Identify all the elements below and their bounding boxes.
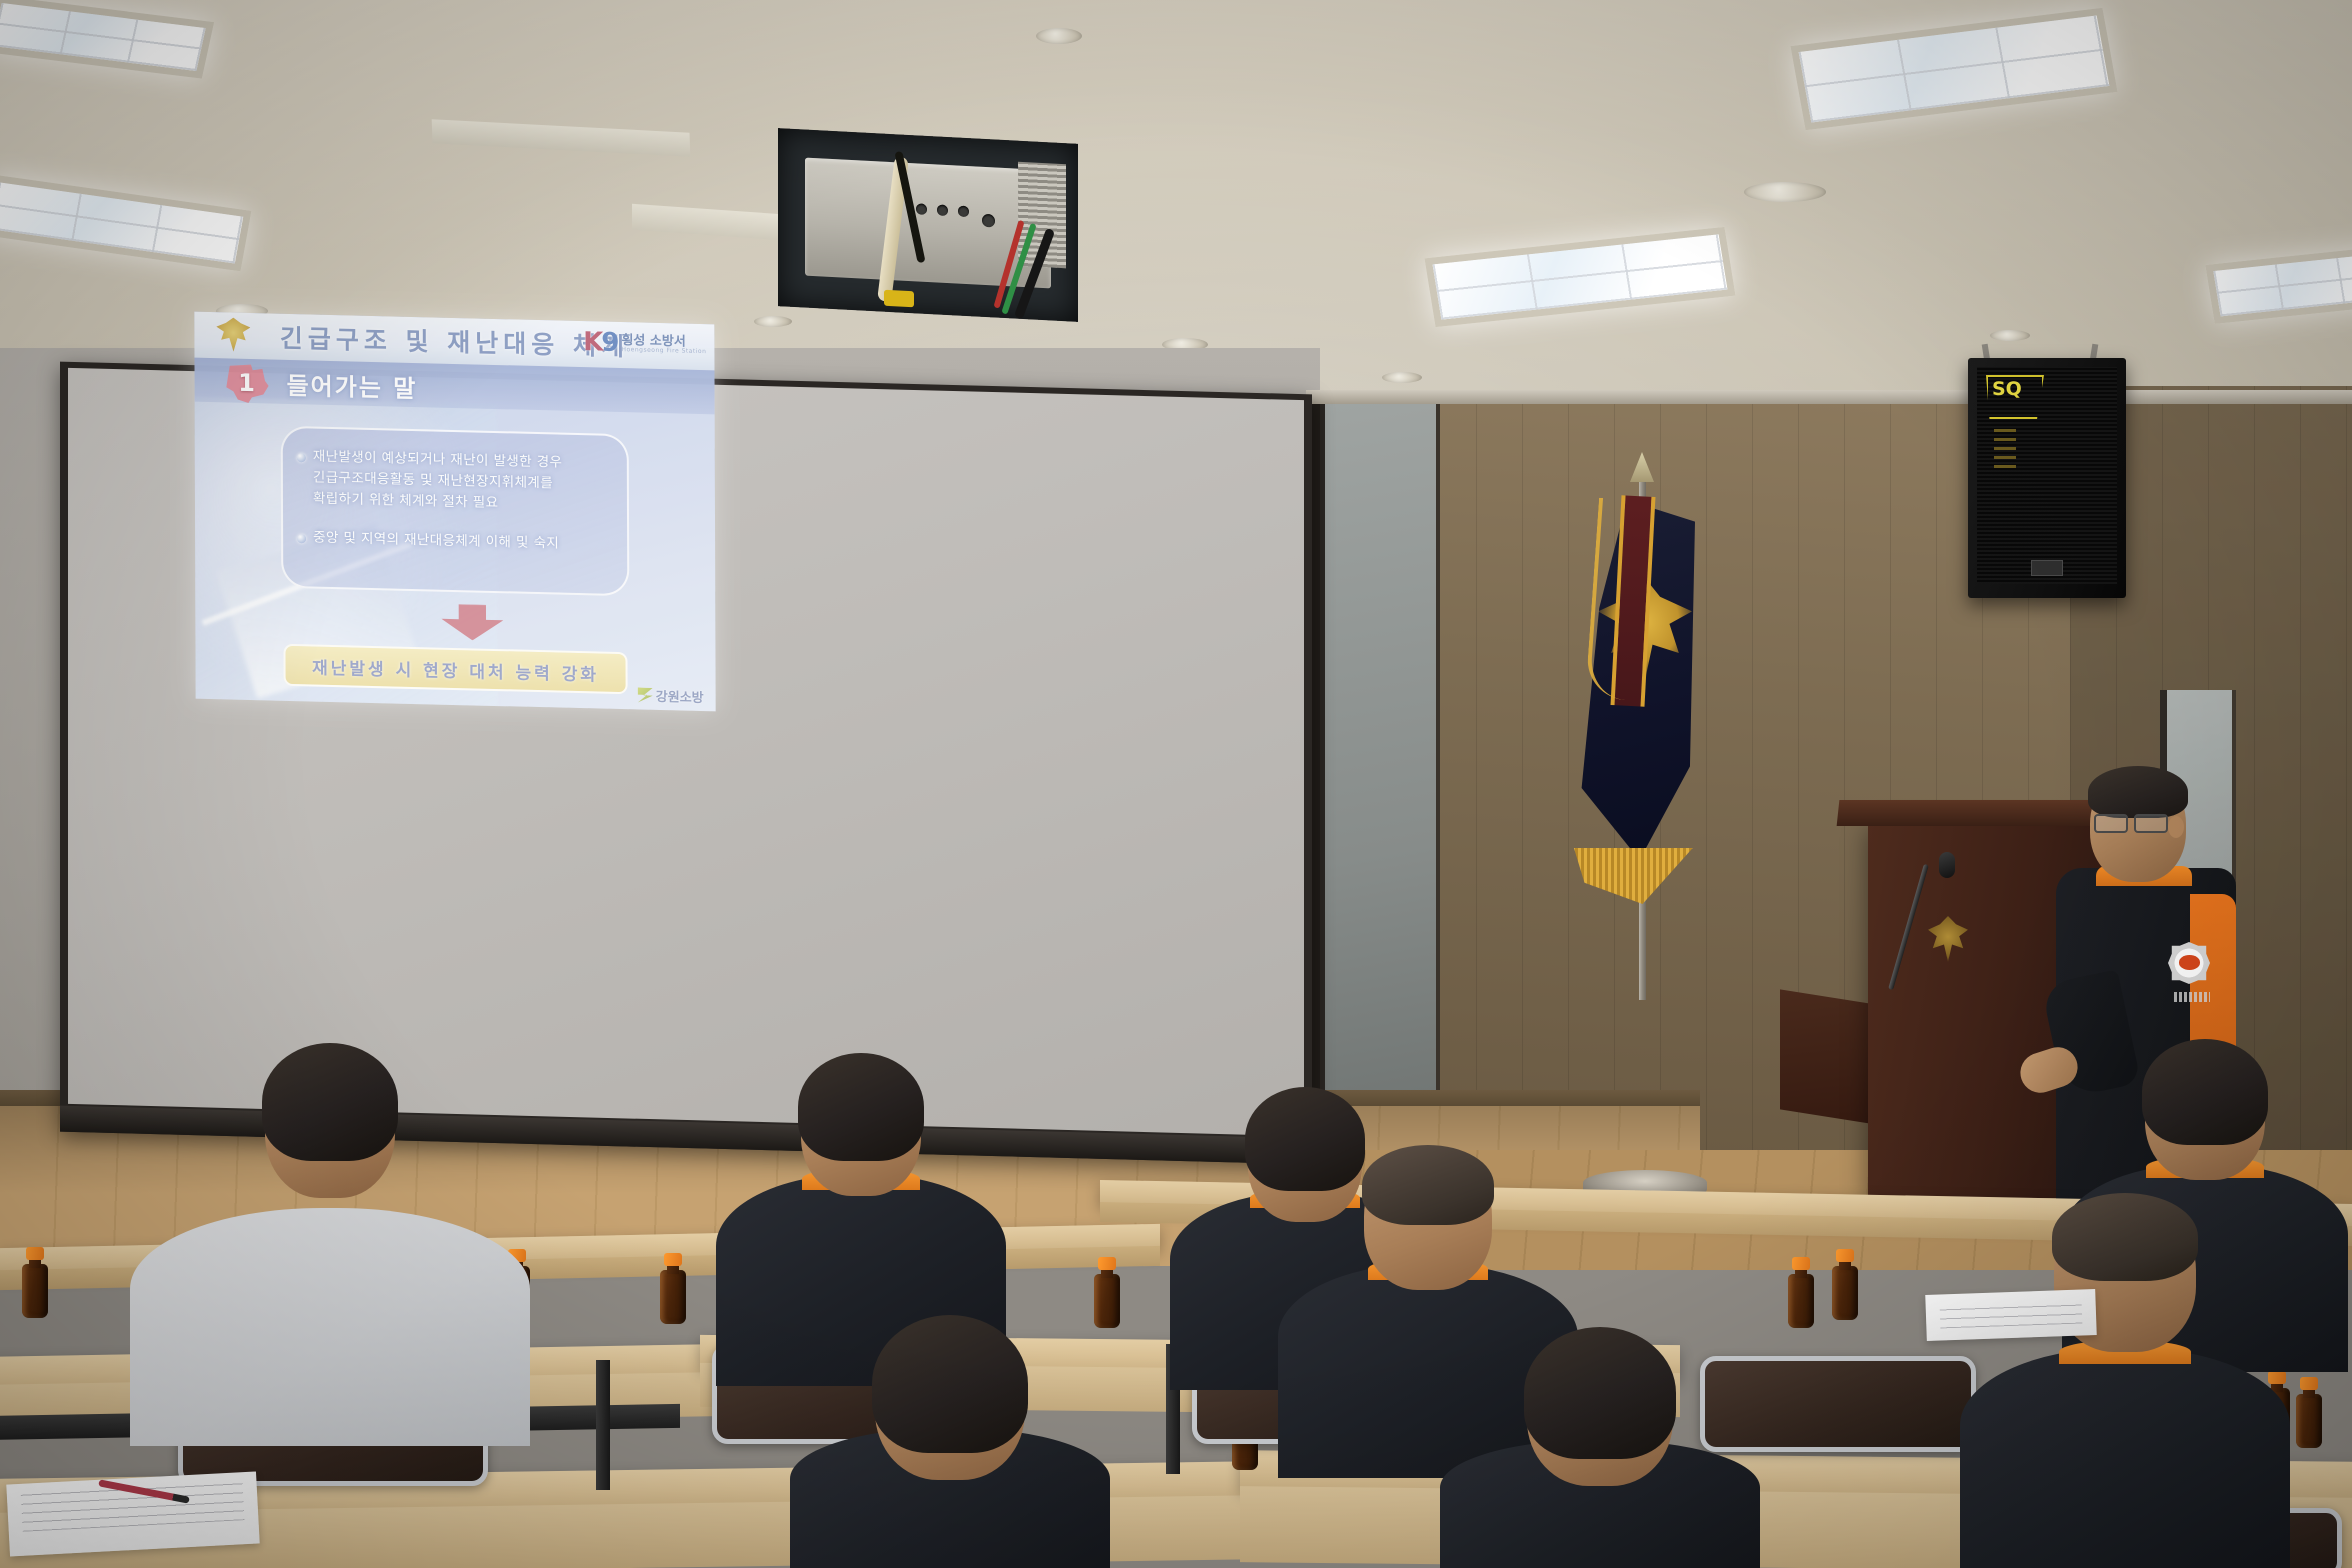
pa-speaker: SQ xyxy=(1968,358,2126,598)
podium-emblem-icon xyxy=(1928,916,1968,962)
speaker-model-label xyxy=(2031,560,2063,576)
k9-letter-k: K xyxy=(583,327,601,357)
bottle-body xyxy=(1788,1274,1814,1328)
drink-bottle[interactable] xyxy=(22,1248,48,1318)
slide-conclusion-box: 재난발생 시 현장 대처 능력 강화 xyxy=(283,644,627,694)
k9-digit-9: 9 xyxy=(601,328,617,358)
bottle-cap xyxy=(2300,1377,2318,1390)
projector-port xyxy=(937,204,948,216)
projected-slide: 긴급구조 및 재난대응 체계 K9 횡성 소방서 Hoengseong Fire… xyxy=(194,312,715,712)
bullet-item: 재난발생이 예상되거나 재난이 발생한 경우 긴급구조대응활동 및 재난현장지휘… xyxy=(297,446,613,516)
bullet-item: 중앙 및 지역의 재난대응체계 이해 및 숙지 xyxy=(297,527,613,556)
bullet-dot-icon xyxy=(297,453,306,462)
ceiling-downlight xyxy=(1744,182,1826,202)
frosted-glass-door[interactable] xyxy=(1318,402,1440,1150)
k9-org-logo: K9 횡성 소방서 Hoengseong Fire Station xyxy=(583,327,706,360)
conference-room-scene: SQ 긴급구조 및 재난대응 체계 K9 횡성 소방서 Hoengseong F… xyxy=(0,0,2352,1568)
wall-trim-top xyxy=(1306,390,2352,404)
gangwon-logo-text: 강원소방 xyxy=(656,686,704,706)
document[interactable] xyxy=(1925,1289,2097,1341)
attendee-hair xyxy=(262,1043,398,1161)
speaker-led-indicators xyxy=(1994,428,2016,468)
bottle-cap xyxy=(1792,1257,1810,1270)
bullet-line: 중앙 및 지역의 재난대응체계 이해 및 숙지 xyxy=(313,527,559,554)
projector-connector xyxy=(884,290,914,308)
bullet-text: 중앙 및 지역의 재난대응체계 이해 및 숙지 xyxy=(313,527,559,554)
document[interactable] xyxy=(6,1472,259,1557)
projector-body xyxy=(805,158,1051,288)
attendee-hair xyxy=(2052,1193,2198,1281)
table-leg xyxy=(596,1360,610,1490)
k9-org-text: 횡성 소방서 Hoengseong Fire Station xyxy=(621,334,706,355)
flag-cord xyxy=(1585,498,1671,703)
org-name-en: Hoengseong Fire Station xyxy=(621,347,706,355)
bottle-body xyxy=(22,1264,48,1318)
projector-port xyxy=(982,214,995,228)
attendee-hair xyxy=(2142,1039,2268,1145)
bullet-text: 재난발생이 예상되거나 재난이 발생한 경우 긴급구조대응활동 및 재난현장지휘… xyxy=(313,447,563,516)
speaker-brand-badge: SQ xyxy=(1986,375,2044,419)
ceiling-downlight xyxy=(1990,330,2030,341)
presenter-glasses-icon xyxy=(2094,814,2168,830)
attendee-torso xyxy=(1960,1348,2290,1568)
presenter-ear xyxy=(2168,816,2184,838)
bottle-body xyxy=(2296,1394,2322,1448)
light-louver-grid xyxy=(2213,252,2352,317)
bottle-body xyxy=(1832,1266,1858,1320)
attendee-hair xyxy=(1362,1145,1494,1225)
attendee xyxy=(1440,1330,1760,1568)
projector-port xyxy=(958,205,969,217)
section-title: 들어가는 말 xyxy=(287,366,418,404)
ceiling-downlight xyxy=(754,316,792,327)
projector-port xyxy=(916,203,927,215)
bottle-cap xyxy=(1836,1249,1854,1262)
attendee-hair xyxy=(872,1315,1028,1453)
ceiling-projector-recess xyxy=(778,128,1078,322)
bottle-body xyxy=(660,1270,686,1324)
attendee xyxy=(130,1046,530,1446)
bottle-cap xyxy=(1098,1257,1116,1270)
k9-mark-icon: K9 xyxy=(583,327,617,358)
drink-bottle[interactable] xyxy=(660,1254,686,1324)
attendee xyxy=(1960,1196,2290,1568)
gangwon-mark-icon xyxy=(638,687,653,702)
attendee xyxy=(790,1318,1110,1568)
presenter-hair xyxy=(2088,766,2188,818)
ceiling-downlight xyxy=(1036,28,1082,44)
presenter-name-tape xyxy=(2174,992,2210,1002)
attendee-torso xyxy=(130,1208,530,1446)
microphone-head-icon xyxy=(1939,852,1955,878)
document-text-lines xyxy=(1940,1299,2083,1329)
bullet-dot-icon xyxy=(297,534,306,543)
presenter-shoulder-patch xyxy=(2168,942,2210,984)
drink-bottle[interactable] xyxy=(2296,1378,2322,1448)
attendee-hair xyxy=(1524,1327,1676,1459)
drink-bottle[interactable] xyxy=(1832,1250,1858,1320)
slide-content-box: 재난발생이 예상되거나 재난이 발생한 경우 긴급구조대응활동 및 재난현장지휘… xyxy=(281,426,630,597)
gangwon-fire-logo: 강원소방 xyxy=(638,685,704,706)
drink-bottle[interactable] xyxy=(1788,1258,1814,1328)
ceiling-downlight xyxy=(1382,372,1422,383)
attendee-hair xyxy=(798,1053,924,1161)
bottle-cap xyxy=(26,1247,44,1260)
bottle-cap xyxy=(664,1253,682,1266)
